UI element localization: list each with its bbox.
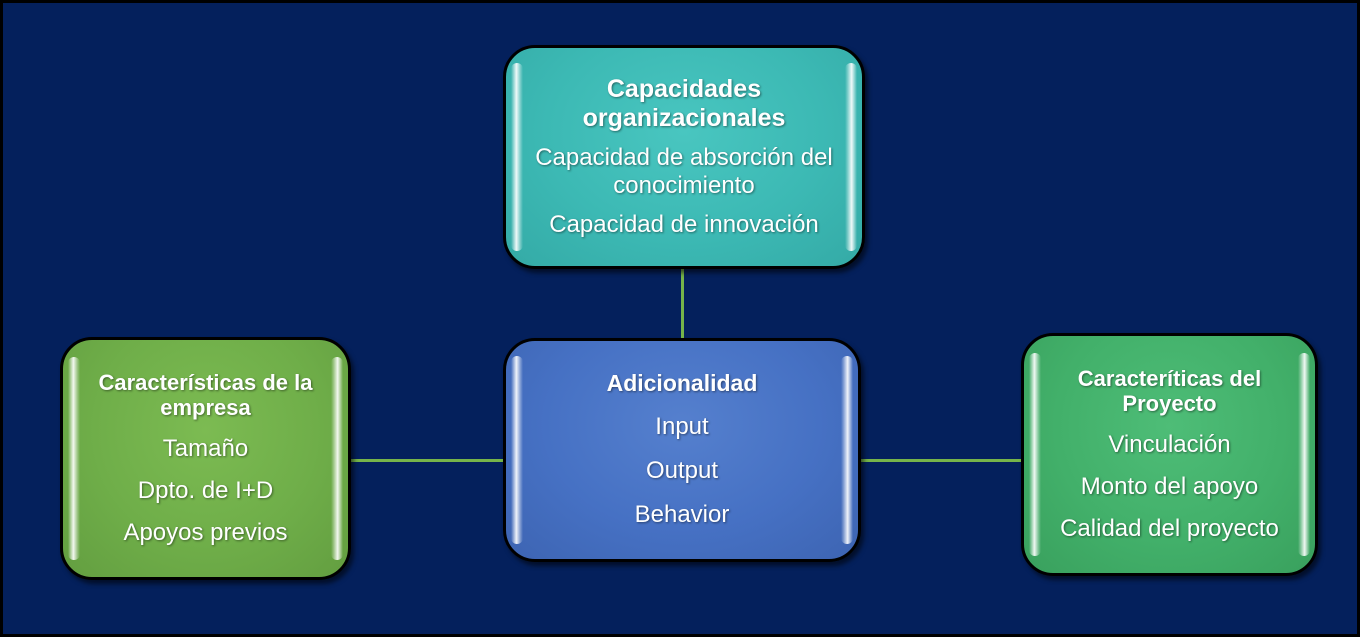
node-capacidades-organizacionales[interactable]: Capacidades organizacionales Capacidad d… [503,45,865,269]
node-empresa-item-2: Dpto. de I+D [73,477,338,505]
node-capacidades-title: Capacidades organizacionales [516,75,852,133]
node-capacidades-item-1: Capacidad de absorción del conocimiento [516,144,852,201]
node-adicionalidad-item-1: Input [516,413,848,441]
node-caracteristicas-de-la-empresa[interactable]: Características de la empresa Tamaño Dpt… [60,337,351,580]
connector-adicionalidad-to-proyecto [858,459,1024,462]
node-adicionalidad[interactable]: Adicionalidad Input Output Behavior [503,338,861,562]
connector-capacidades-to-adicionalidad [681,267,684,341]
node-proyecto-item-3: Calidad del proyecto [1034,515,1305,543]
node-adicionalidad-item-2: Output [516,457,848,485]
node-capacidades-item-2: Capacidad de innovación [516,211,852,239]
node-caracteristicas-del-proyecto[interactable]: Caracteríticas del Proyecto Vinculación … [1021,333,1318,576]
node-empresa-content: Características de la empresa Tamaño Dpt… [63,370,348,548]
node-adicionalidad-content: Adicionalidad Input Output Behavior [506,370,858,530]
node-proyecto-title: Caracteríticas del Proyecto [1034,366,1305,417]
node-proyecto-item-1: Vinculación [1034,431,1305,459]
connector-empresa-to-adicionalidad [348,459,506,462]
node-proyecto-content: Caracteríticas del Proyecto Vinculación … [1024,366,1315,544]
node-empresa-item-1: Tamaño [73,435,338,463]
node-adicionalidad-item-3: Behavior [516,501,848,529]
node-adicionalidad-title: Adicionalidad [516,370,848,397]
node-proyecto-item-2: Monto del apoyo [1034,473,1305,501]
node-empresa-title: Características de la empresa [73,370,338,421]
node-empresa-item-3: Apoyos previos [73,519,338,547]
diagram-canvas: Capacidades organizacionales Capacidad d… [0,0,1360,637]
node-capacidades-content: Capacidades organizacionales Capacidad d… [506,75,862,240]
